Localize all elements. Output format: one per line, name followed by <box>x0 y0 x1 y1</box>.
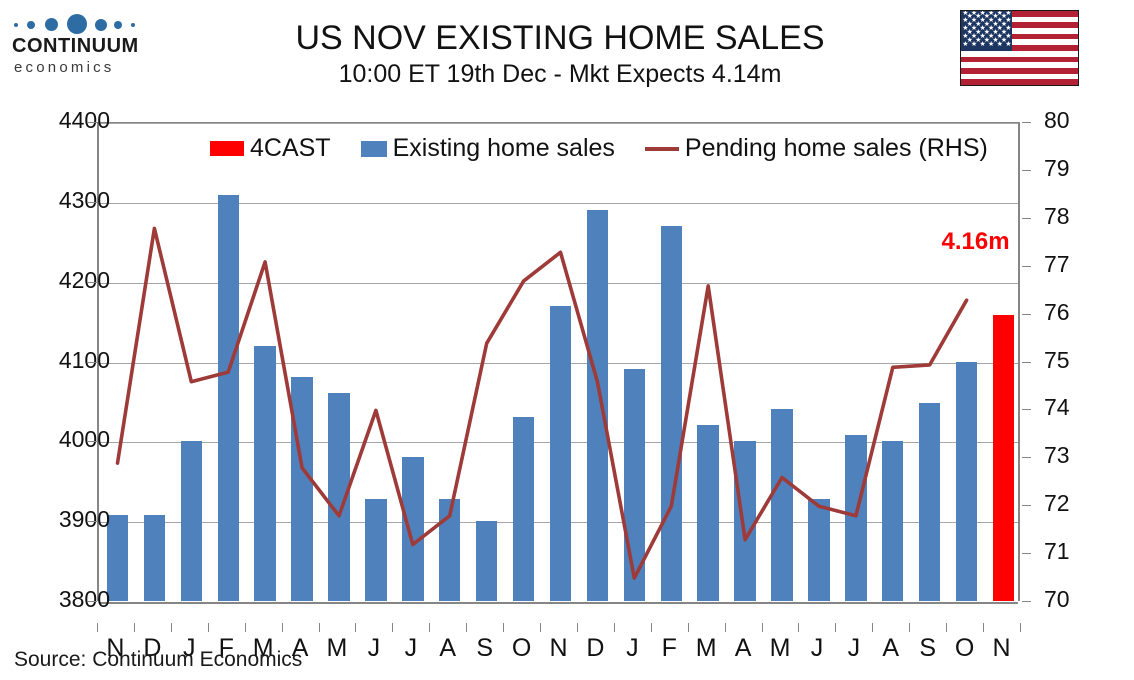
x-axis-tick-label: S <box>908 634 948 663</box>
legend-swatch-pending-home-sales <box>645 147 679 151</box>
gridline <box>99 602 1018 604</box>
x-axis-tick-label: D <box>575 634 615 663</box>
forecast-bar <box>993 315 1014 601</box>
x-axis-tickmark <box>1020 623 1021 632</box>
flag-star: ★ <box>997 41 1003 48</box>
legend-label-pending-home-sales: Pending home sales (RHS) <box>685 134 988 163</box>
y-axis-left-tickmark <box>88 601 97 602</box>
data-bar <box>254 346 275 601</box>
y-axis-left-tickmark <box>88 441 97 442</box>
y-axis-left-tickmark <box>88 282 97 283</box>
data-bar <box>402 457 423 601</box>
y-axis-right-tickmark <box>1022 122 1031 123</box>
data-bar <box>513 417 534 601</box>
x-axis-tickmark <box>577 623 578 632</box>
y-axis-left-tickmark <box>88 202 97 203</box>
x-axis-tickmark <box>319 623 320 632</box>
y-axis-right-tickmark <box>1022 170 1031 171</box>
x-axis-tick-label: A <box>871 634 911 663</box>
x-axis-tick-label: O <box>945 634 985 663</box>
legend-item-pending-home-sales: Pending home sales (RHS) <box>645 134 988 163</box>
y-axis-right-tick-label: 73 <box>1044 442 1104 469</box>
x-axis-tickmark <box>245 623 246 632</box>
x-axis-tick-label: O <box>502 634 542 663</box>
data-bar <box>624 369 645 601</box>
continuum-logo: CONTINUUM economics <box>12 12 152 84</box>
y-axis-right-tickmark <box>1022 505 1031 506</box>
x-axis-tickmark <box>909 623 910 632</box>
y-axis-right-tick-label: 70 <box>1044 586 1104 613</box>
y-axis-left-tick-label: 3900 <box>30 506 110 533</box>
x-axis-tickmark <box>725 623 726 632</box>
x-axis-tick-label: N <box>982 634 1022 663</box>
y-axis-right-tickmark <box>1022 457 1031 458</box>
y-axis-right-tick-label: 75 <box>1044 347 1104 374</box>
x-axis-tickmark <box>872 623 873 632</box>
y-axis-left-tickmark <box>88 122 97 123</box>
x-axis-tick-label: M <box>317 634 357 663</box>
legend-label-4cast: 4CAST <box>250 134 331 163</box>
chart-area: 3800390040004100420043004400707172737475… <box>0 100 1134 645</box>
gridline <box>99 123 1018 124</box>
flag-star: ★ <box>988 41 994 48</box>
x-axis-tick-label: J <box>354 634 394 663</box>
data-bar <box>882 441 903 601</box>
y-axis-right-tick-label: 71 <box>1044 538 1104 565</box>
forecast-value-annotation: 4.16m <box>942 228 1010 256</box>
y-axis-left-tick-label: 4300 <box>30 187 110 214</box>
data-bar <box>587 210 608 601</box>
x-axis-tick-label: A <box>428 634 468 663</box>
x-axis-tickmark <box>835 623 836 632</box>
data-bar <box>439 499 460 601</box>
title-block: US NOV EXISTING HOME SALES 10:00 ET 19th… <box>170 18 950 90</box>
y-axis-right-tickmark <box>1022 553 1031 554</box>
y-axis-right-tick-label: 74 <box>1044 394 1104 421</box>
flag-star: ★ <box>1005 41 1011 48</box>
flag-stripe <box>961 79 1079 85</box>
data-bar <box>550 306 571 601</box>
y-axis-left-tick-label: 4400 <box>30 107 110 134</box>
x-axis-tickmark <box>983 623 984 632</box>
data-bar <box>845 435 866 601</box>
x-axis-tickmark <box>540 623 541 632</box>
data-bar <box>661 226 682 601</box>
us-flag-icon: ★★★★★★★★★★★★★★★★★★★★★★★★★★★★★★★★★★★★★★★★… <box>960 10 1079 86</box>
y-axis-left-tick-label: 4000 <box>30 426 110 453</box>
x-axis-tickmark <box>798 623 799 632</box>
y-axis-right-tick-label: 78 <box>1044 203 1104 230</box>
x-axis-tick-label: J <box>834 634 874 663</box>
flag-star: ★ <box>979 41 985 48</box>
data-bar <box>919 403 940 601</box>
legend-item-existing-home-sales: Existing home sales <box>361 134 615 163</box>
x-axis-tickmark <box>688 623 689 632</box>
flag-canton: ★★★★★★★★★★★★★★★★★★★★★★★★★★★★★★★★★★★★★★★★… <box>961 11 1012 51</box>
legend-label-existing-home-sales: Existing home sales <box>393 134 615 163</box>
x-axis-tickmark <box>171 623 172 632</box>
y-axis-left-tick-label: 4200 <box>30 267 110 294</box>
data-bar <box>476 521 497 601</box>
y-axis-right-tickmark <box>1022 266 1031 267</box>
chart-legend: 4CAST Existing home sales Pending home s… <box>210 134 988 163</box>
y-axis-right-tickmark <box>1022 218 1031 219</box>
y-axis-right-tickmark <box>1022 409 1031 410</box>
legend-swatch-4cast <box>210 141 244 156</box>
x-axis-tickmark <box>466 623 467 632</box>
y-axis-right-tick-label: 72 <box>1044 490 1104 517</box>
source-note: Source: Continuum Economics <box>14 648 302 672</box>
y-axis-right-tickmark <box>1022 314 1031 315</box>
y-axis-left-tickmark <box>88 521 97 522</box>
data-bar <box>808 499 829 601</box>
x-axis-tickmark <box>355 623 356 632</box>
data-bar <box>365 499 386 601</box>
data-bar <box>218 195 239 601</box>
x-axis-tickmark <box>208 623 209 632</box>
logo-wordmark: CONTINUUM <box>12 35 152 57</box>
x-axis-tick-label: J <box>391 634 431 663</box>
x-axis-tickmark <box>614 623 615 632</box>
x-axis-tick-label: J <box>612 634 652 663</box>
y-axis-right-tick-label: 80 <box>1044 107 1104 134</box>
data-bar <box>144 515 165 601</box>
page-subtitle: 10:00 ET 19th Dec - Mkt Expects 4.14m <box>170 58 950 90</box>
x-axis-tickmark <box>946 623 947 632</box>
x-axis-tickmark <box>97 623 98 632</box>
y-axis-right-tickmark <box>1022 601 1031 602</box>
x-axis-tickmark <box>134 623 135 632</box>
x-axis-tick-label: S <box>465 634 505 663</box>
data-bar <box>181 441 202 601</box>
flag-star: ★ <box>962 41 968 48</box>
y-axis-right-tick-label: 79 <box>1044 155 1104 182</box>
x-axis-tickmark <box>392 623 393 632</box>
y-axis-left-tick-label: 3800 <box>30 586 110 613</box>
x-axis-tickmark <box>651 623 652 632</box>
page-title: US NOV EXISTING HOME SALES <box>170 18 950 58</box>
x-axis-tick-label: N <box>539 634 579 663</box>
y-axis-right-tick-label: 76 <box>1044 299 1104 326</box>
legend-item-4cast: 4CAST <box>210 134 331 163</box>
y-axis-right-tickmark <box>1022 362 1031 363</box>
x-axis-tickmark <box>762 623 763 632</box>
y-axis-left-tick-label: 4100 <box>30 347 110 374</box>
data-bar <box>328 393 349 601</box>
legend-swatch-existing-home-sales <box>361 141 387 157</box>
flag-star: ★ <box>971 41 977 48</box>
x-axis-tick-label: M <box>686 634 726 663</box>
y-axis-left-tickmark <box>88 362 97 363</box>
x-axis-tick-label: A <box>723 634 763 663</box>
x-axis-tickmark <box>429 623 430 632</box>
x-axis-tick-label: J <box>797 634 837 663</box>
plot-area <box>97 122 1020 601</box>
data-bar <box>697 425 718 601</box>
x-axis-tick-label: F <box>649 634 689 663</box>
data-bar <box>291 377 312 601</box>
data-bar <box>734 441 755 601</box>
data-bar <box>771 409 792 601</box>
y-axis-right-tick-label: 77 <box>1044 251 1104 278</box>
logo-dots-icon <box>12 12 144 34</box>
chart-page: CONTINUUM economics US NOV EXISTING HOME… <box>0 0 1134 680</box>
x-axis-tickmark <box>503 623 504 632</box>
data-bar <box>956 362 977 602</box>
logo-tagline: economics <box>12 59 152 77</box>
x-axis-tickmark <box>282 623 283 632</box>
x-axis-tick-label: M <box>760 634 800 663</box>
